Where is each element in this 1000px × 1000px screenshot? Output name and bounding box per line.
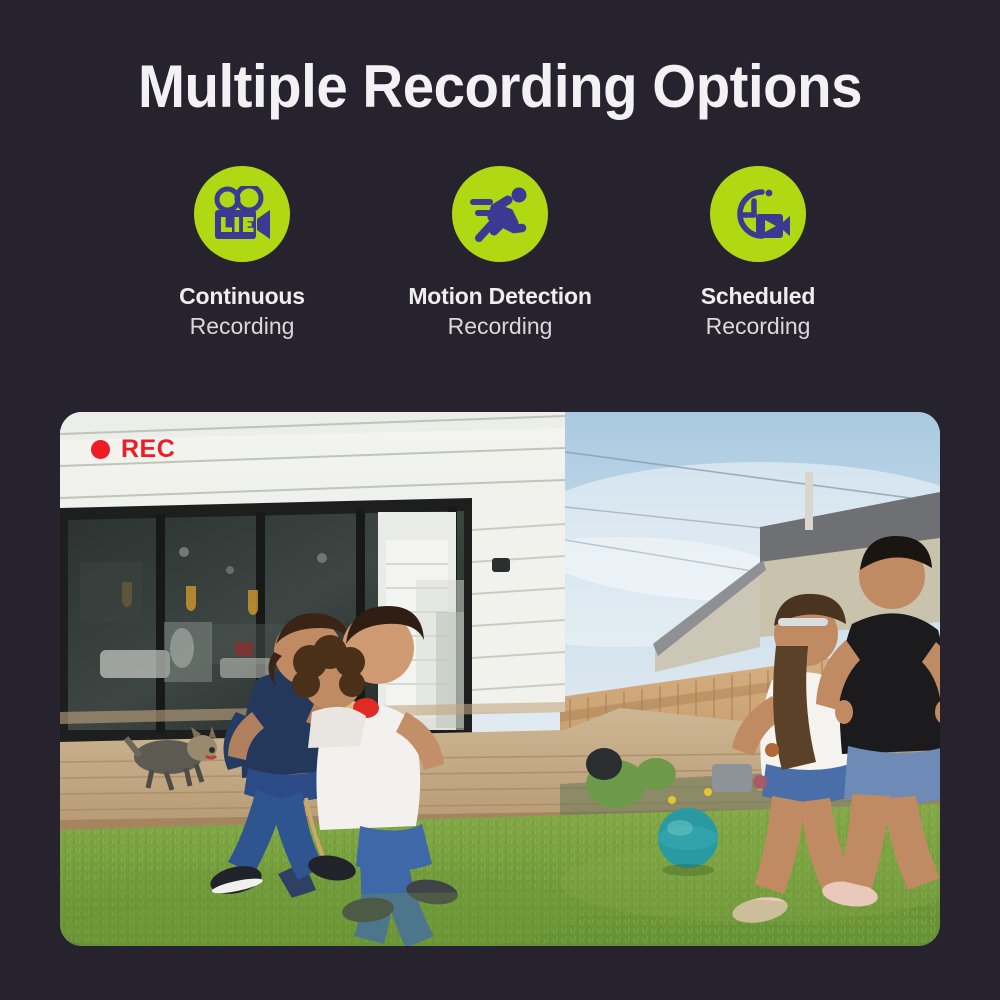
feature-title: Continuous xyxy=(179,284,305,310)
backyard-scene-illustration xyxy=(60,412,940,946)
clock-video-camera-icon xyxy=(726,184,790,244)
record-dot-icon xyxy=(91,440,110,459)
feature-row: Continuous Recording xyxy=(0,166,1000,340)
feature-title: Scheduled xyxy=(701,284,816,310)
rec-indicator: REC xyxy=(91,435,175,464)
feature-subtitle: Recording xyxy=(190,314,295,340)
feature-scheduled-recording: Scheduled Recording xyxy=(629,166,887,340)
feature-subtitle: Recording xyxy=(706,314,811,340)
feature-motion-detection: Motion Detection Recording xyxy=(371,166,629,340)
promo-graphic: Multiple Recording Options xyxy=(0,0,1000,1000)
feature-subtitle: Recording xyxy=(448,314,553,340)
running-person-motion-icon xyxy=(468,184,532,244)
feature-title: Motion Detection xyxy=(408,284,591,310)
feature-icon-badge xyxy=(194,166,290,262)
feature-icon-badge xyxy=(710,166,806,262)
rec-label: REC xyxy=(121,435,175,464)
feature-continuous-recording: Continuous Recording xyxy=(113,166,371,340)
camera-preview-photo: REC xyxy=(60,412,940,946)
page-title: Multiple Recording Options xyxy=(30,52,970,121)
feature-icon-badge xyxy=(452,166,548,262)
live-video-camera-icon xyxy=(211,186,273,242)
